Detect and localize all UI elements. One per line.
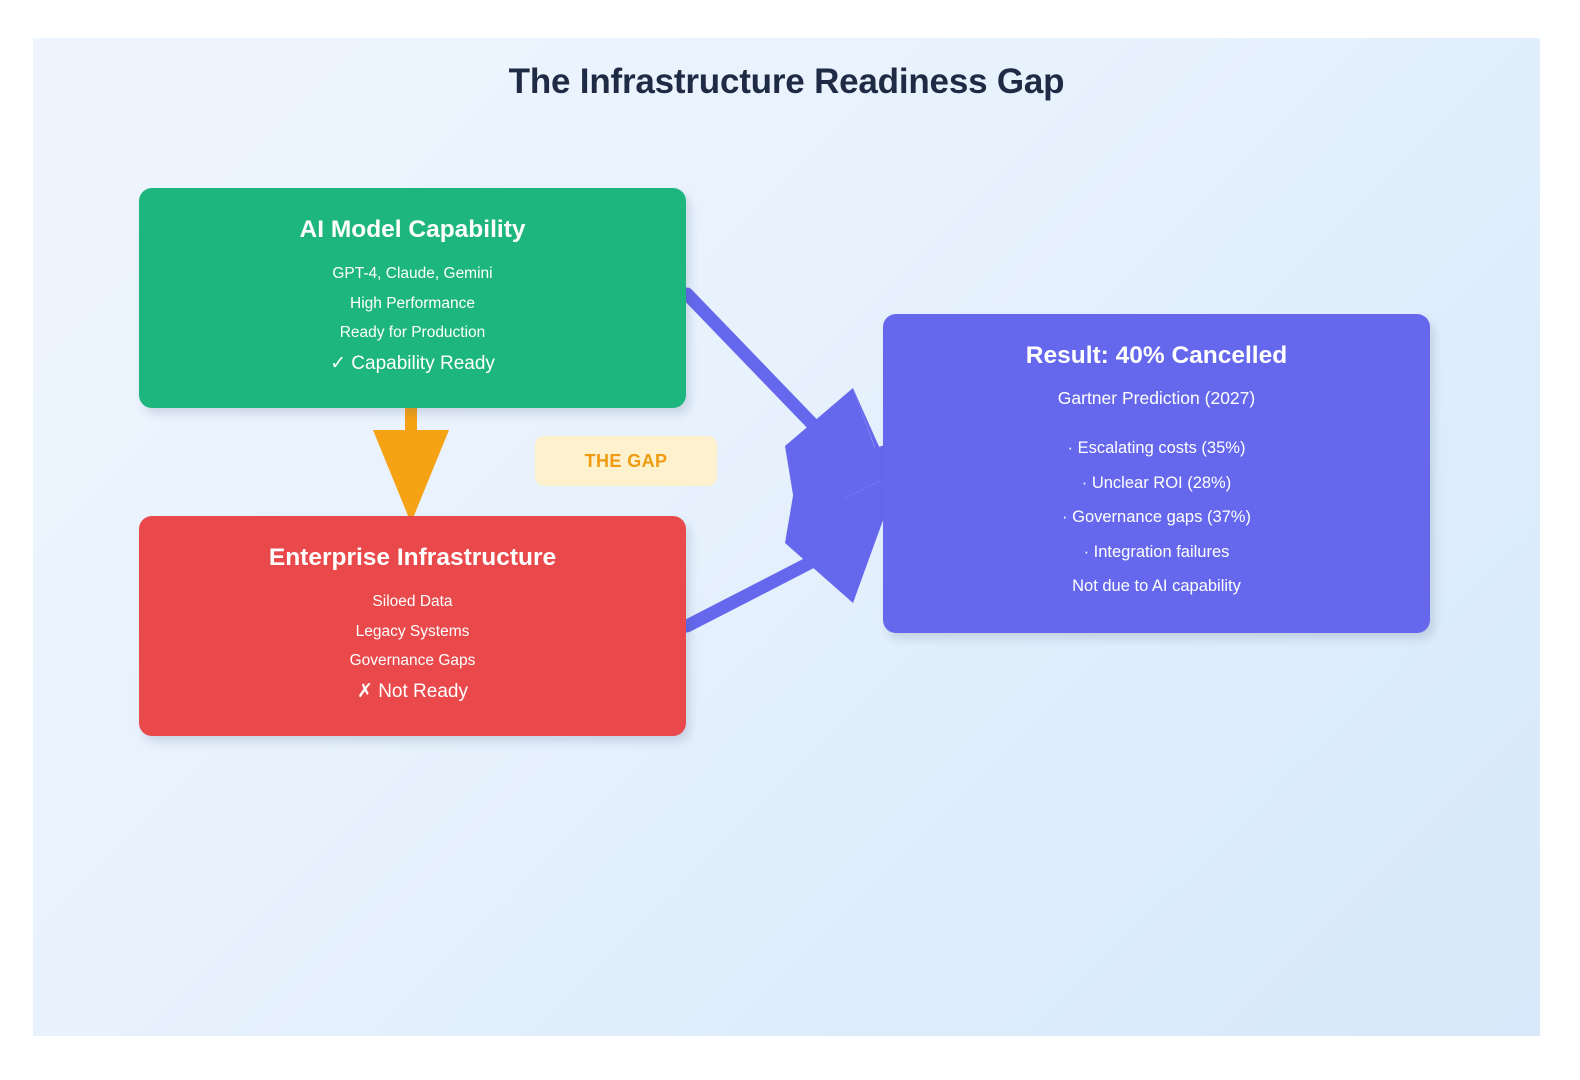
node-line: High Performance	[139, 289, 686, 319]
node-result-cancelled[interactable]: Result: 40% Cancelled Gartner Prediction…	[883, 314, 1430, 633]
list-item: · Governance gaps (37%)	[883, 500, 1430, 535]
gap-badge-label: THE GAP	[585, 451, 668, 472]
node-ai-model-capability[interactable]: AI Model Capability GPT-4, Claude, Gemin…	[139, 188, 686, 408]
node-enterprise-infrastructure[interactable]: Enterprise Infrastructure Siloed Data Le…	[139, 516, 686, 736]
node-body-capability: GPT-4, Claude, Gemini High Performance R…	[139, 259, 686, 379]
list-item: · Unclear ROI (28%)	[883, 466, 1430, 501]
node-bullets-result: · Escalating costs (35%) · Unclear ROI (…	[883, 431, 1430, 604]
node-line: Ready for Production	[139, 318, 686, 348]
node-line: GPT-4, Claude, Gemini	[139, 259, 686, 289]
node-line: Siloed Data	[139, 587, 686, 617]
node-line: Legacy Systems	[139, 617, 686, 647]
node-title-capability: AI Model Capability	[139, 216, 686, 244]
arrow-convergence-tip	[795, 388, 893, 603]
diagram-canvas: The Infrastructure Readiness Gap	[0, 0, 1580, 1080]
gap-down-arrow	[373, 408, 449, 523]
list-item: · Escalating costs (35%)	[883, 431, 1430, 466]
node-footnote-result: Not due to AI capability	[883, 569, 1430, 604]
gap-badge: THE GAP	[535, 436, 717, 486]
node-title-result: Result: 40% Cancelled	[883, 342, 1430, 370]
node-line: Governance Gaps	[139, 646, 686, 676]
diagram-panel: The Infrastructure Readiness Gap	[33, 38, 1540, 1036]
node-title-infrastructure: Enterprise Infrastructure	[139, 544, 686, 572]
infrastructure-to-result-arrow	[687, 478, 886, 626]
node-subtitle-result: Gartner Prediction (2027)	[883, 388, 1430, 409]
status-badge-infrastructure: ✗ Not Ready	[139, 676, 686, 707]
list-item: · Integration failures	[883, 535, 1430, 570]
node-body-infrastructure: Siloed Data Legacy Systems Governance Ga…	[139, 587, 686, 707]
status-badge-capability: ✓ Capability Ready	[139, 348, 686, 379]
page-title: The Infrastructure Readiness Gap	[33, 62, 1540, 102]
